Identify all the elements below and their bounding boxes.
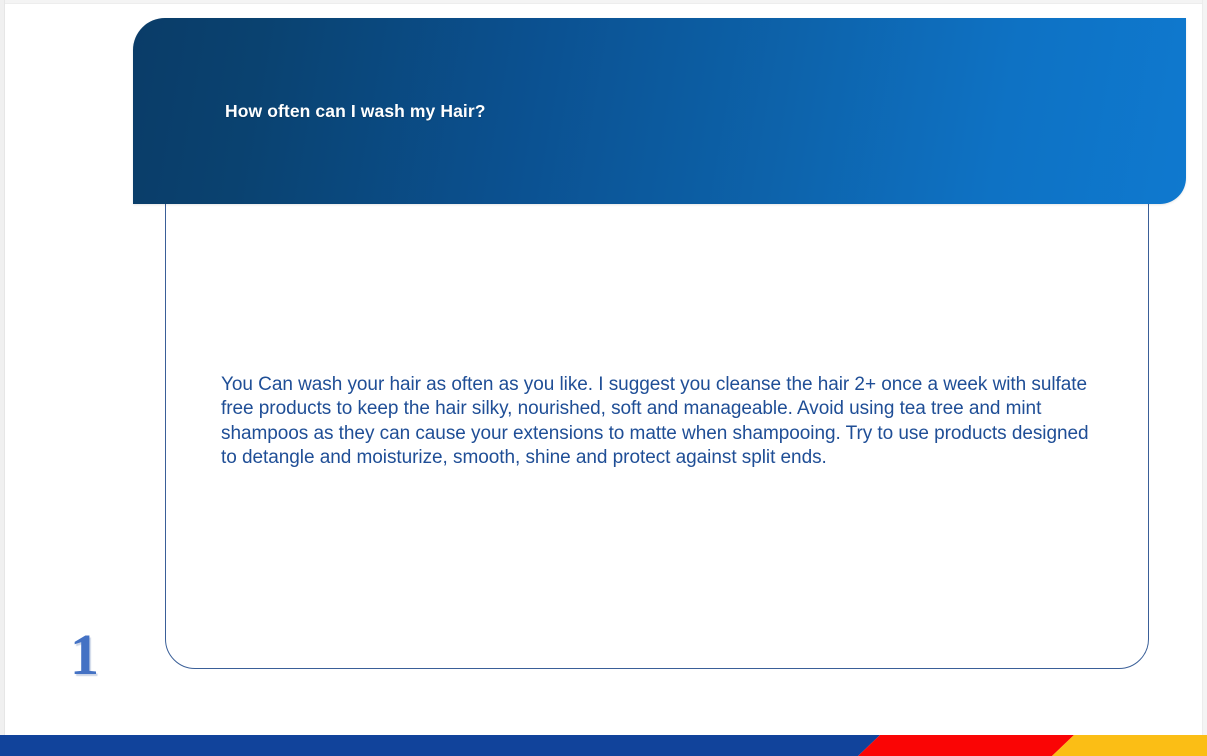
footer-bar xyxy=(0,735,1207,756)
page-edge-left xyxy=(0,0,5,756)
footer-red-segment xyxy=(858,735,1074,756)
footer-yellow-segment xyxy=(1052,735,1207,756)
slide-canvas: How often can I wash my Hair? You Can wa… xyxy=(0,0,1207,756)
header-banner: How often can I wash my Hair? xyxy=(133,18,1186,204)
slide-number: 1 xyxy=(70,626,99,684)
footer-blue-segment xyxy=(0,735,880,756)
page-edge-top xyxy=(0,0,1207,4)
page-title: How often can I wash my Hair? xyxy=(225,101,486,122)
page-edge-right xyxy=(1202,0,1207,756)
body-paragraph: You Can wash your hair as often as you l… xyxy=(221,373,1101,471)
